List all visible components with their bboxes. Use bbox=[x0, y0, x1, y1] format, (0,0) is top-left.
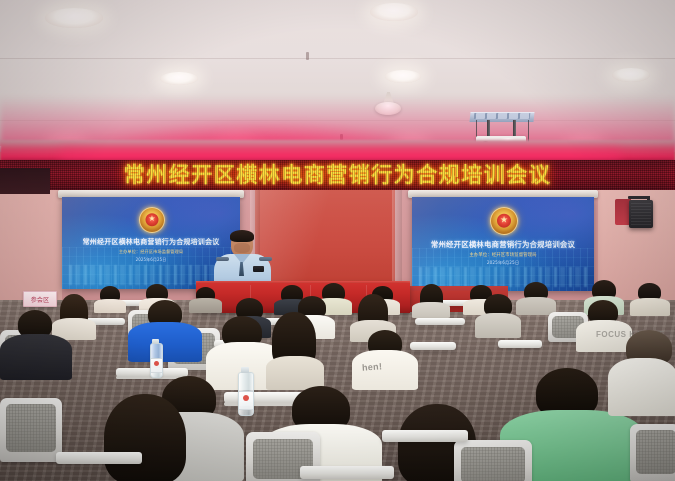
led-banner-text: 常州经开区横林电商营销行为合规培训会议 bbox=[0, 162, 675, 189]
person-torso bbox=[475, 313, 521, 338]
tablet-arm-desk bbox=[415, 318, 465, 325]
person-torso bbox=[608, 358, 675, 416]
chair-mesh-back bbox=[636, 430, 675, 474]
person-torso bbox=[128, 322, 202, 362]
led-banner: 常州经开区横林电商营销行为合规培训会议 bbox=[0, 160, 675, 191]
bottle-label-mark bbox=[243, 395, 249, 401]
ceiling-downlight bbox=[45, 8, 103, 28]
chair-mesh-back bbox=[461, 447, 525, 481]
conference-room-screenshot: 常州经开区横林电商营销行为合规培训会议 ★ 常州经开区横林电商营销行为合规培训会… bbox=[0, 0, 675, 481]
wall-sign-text: 参会区 bbox=[31, 295, 50, 304]
speaker-epaulet bbox=[259, 257, 272, 261]
ceiling-downlight bbox=[385, 70, 421, 83]
person-torso bbox=[94, 299, 126, 313]
tablet-arm-desk bbox=[56, 452, 142, 464]
speaker-hair bbox=[230, 230, 254, 242]
bottle-cap bbox=[241, 367, 249, 373]
bottle-cap bbox=[152, 339, 159, 344]
person-torso bbox=[630, 298, 670, 316]
speaker-epaulet bbox=[216, 257, 229, 261]
right-screen-glare bbox=[412, 197, 594, 291]
tablet-arm-desk bbox=[300, 466, 394, 479]
shirt-slogan-text: hen! bbox=[362, 361, 383, 372]
person-torso bbox=[412, 302, 450, 318]
person-torso bbox=[0, 334, 72, 380]
right-projection-screen[interactable]: ★ 常州经开区横林电商营销行为合规培训会议 主办单位：经开区市场监督管理局 20… bbox=[412, 197, 594, 291]
person-torso bbox=[189, 298, 222, 313]
speaker-name-badge bbox=[253, 266, 264, 272]
ceiling-downlight bbox=[612, 68, 650, 82]
tablet-arm-desk bbox=[382, 430, 468, 442]
wall-sign-card: 参会区 bbox=[23, 291, 57, 307]
water-bottle[interactable] bbox=[150, 343, 163, 378]
ceiling-downlight bbox=[160, 72, 198, 85]
audience-chair[interactable] bbox=[454, 440, 532, 481]
wall-speaker bbox=[629, 200, 653, 228]
ceiling-sensor bbox=[306, 52, 309, 60]
person-torso bbox=[266, 356, 324, 390]
wall-speaker-grill bbox=[631, 203, 651, 225]
projector-mount-slots bbox=[474, 113, 531, 119]
audience-chair[interactable] bbox=[0, 398, 62, 462]
bottle-label-mark bbox=[154, 361, 159, 366]
left-wall-dark-panel bbox=[0, 168, 50, 194]
ceiling-downlight bbox=[370, 3, 418, 21]
chair-mesh-back bbox=[6, 404, 56, 452]
tablet-arm-desk bbox=[498, 340, 542, 348]
audience-chair[interactable] bbox=[630, 424, 675, 481]
tablet-arm-desk bbox=[410, 342, 456, 350]
ceiling-seam bbox=[0, 58, 675, 59]
water-bottle[interactable] bbox=[238, 372, 254, 416]
person-hair bbox=[104, 394, 186, 481]
speaker-face-shadow bbox=[234, 243, 250, 253]
